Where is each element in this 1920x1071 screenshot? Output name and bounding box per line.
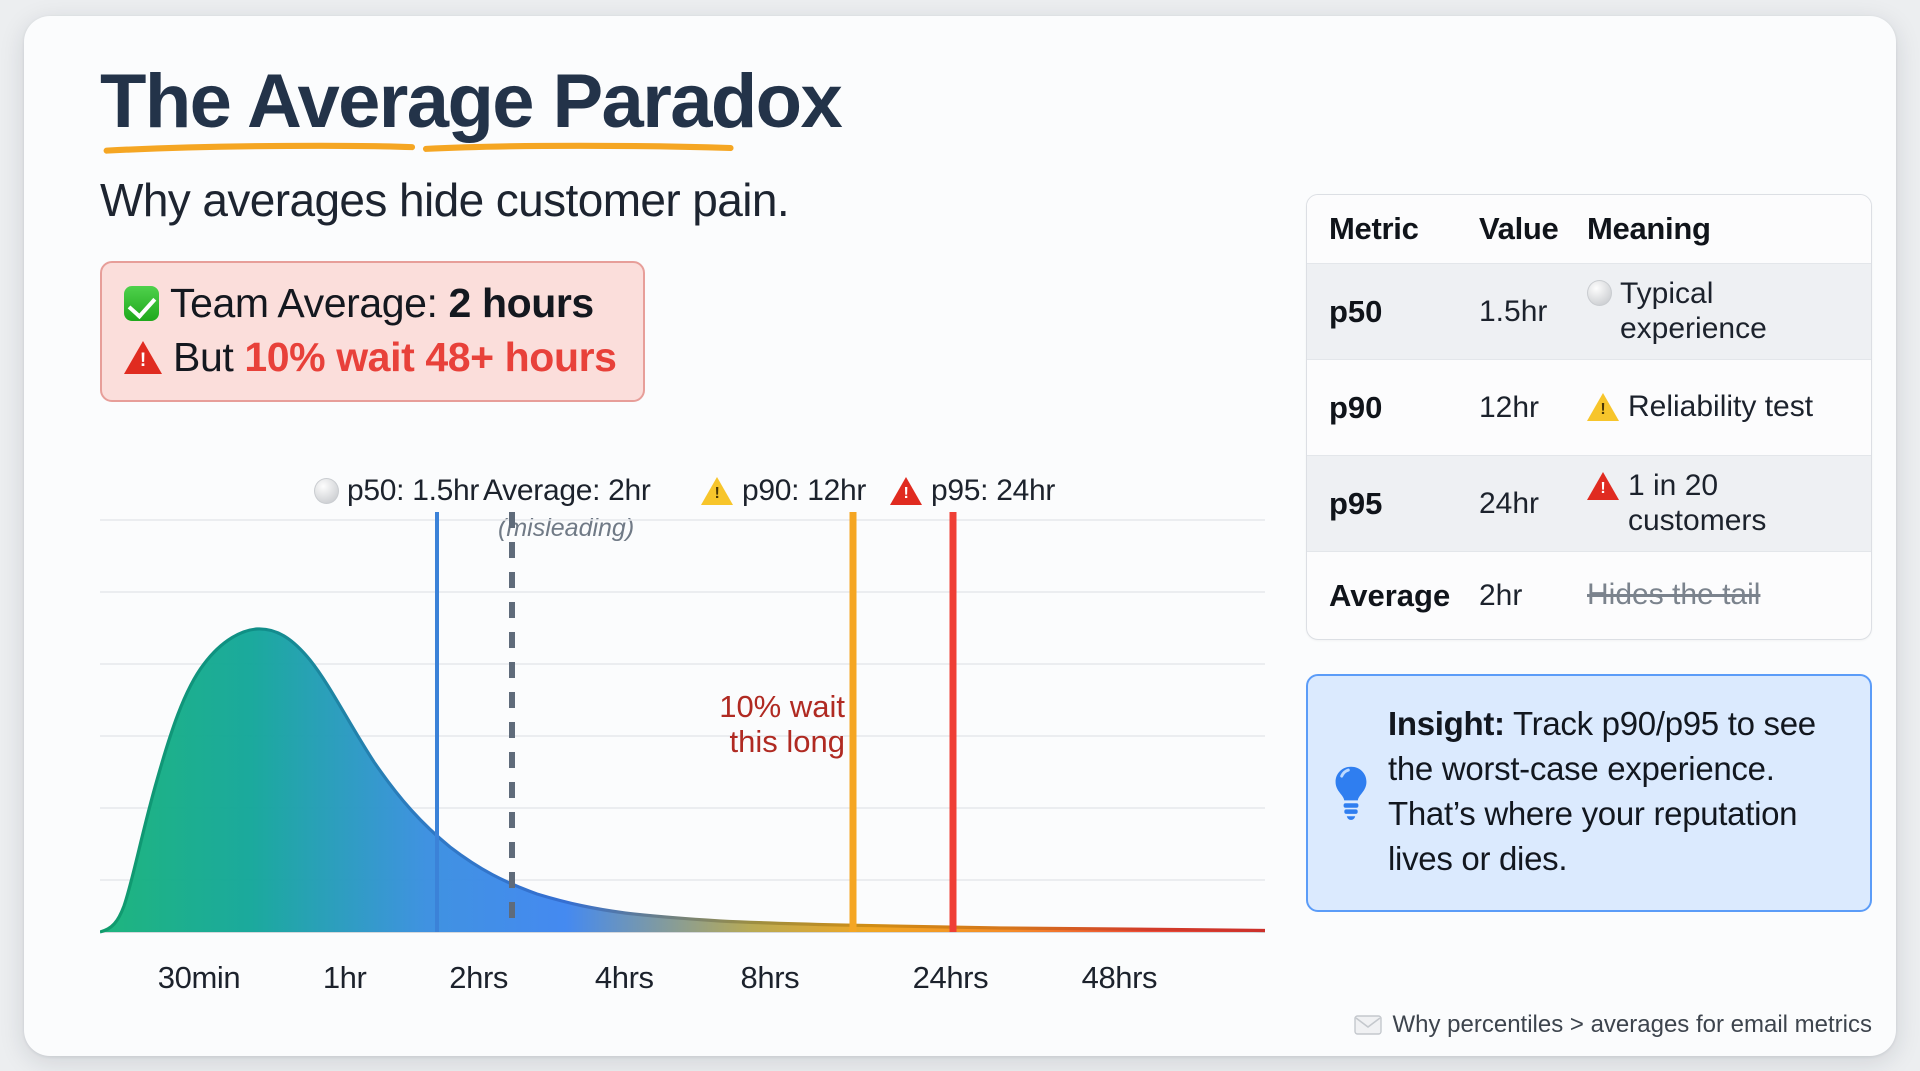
title-block: The Average Paradox: [100, 62, 841, 143]
x-tick-30min: 30min: [158, 960, 240, 996]
x-tick-2hrs: 2hrs: [449, 960, 508, 996]
column-header-meaning: Meaning: [1587, 211, 1871, 247]
table-row[interactable]: Average 2hr Hides the tail: [1307, 551, 1871, 639]
row-meaning: Reliability test: [1587, 390, 1871, 425]
row-value: 24hr: [1479, 487, 1587, 521]
alert-tail-value: 10% wait 48+ hours: [244, 334, 616, 380]
alert-average-value: 2 hours: [449, 280, 594, 326]
table-row[interactable]: p90 12hr Reliability test: [1307, 359, 1871, 455]
envelope-icon: [1354, 1015, 1382, 1035]
row-metric: Average: [1307, 578, 1479, 614]
footer-note: Why percentiles > averages for email met…: [1306, 1011, 1872, 1039]
chart-annotation-tail: 10% wait this long: [719, 690, 845, 759]
x-tick-8hrs: 8hrs: [741, 960, 800, 996]
x-tick-1hr: 1hr: [323, 960, 367, 996]
table-row[interactable]: p50 1.5hr Typical experience: [1307, 263, 1871, 359]
warning-triangle-red-icon: [1587, 472, 1619, 500]
row-value: 2hr: [1479, 579, 1587, 613]
alert-line-tail: But 10% wait 48+ hours: [124, 334, 617, 381]
grey-circle-icon: [314, 478, 339, 504]
left-column: The Average Paradox Why averages hide cu…: [100, 62, 1265, 1022]
insight-label: Insight:: [1388, 705, 1505, 742]
footer-text: Why percentiles > averages for email met…: [1392, 1011, 1872, 1039]
chart-marker-label-average: Average: 2hr: [483, 474, 651, 508]
row-meaning: Typical experience: [1587, 277, 1871, 347]
column-header-value: Value: [1479, 211, 1587, 247]
row-metric: p50: [1307, 294, 1479, 330]
chart-x-axis: 30min 1hr 2hrs 4hrs 8hrs 24hrs 48hrs: [100, 960, 1265, 1006]
infographic-card: The Average Paradox Why averages hide cu…: [24, 16, 1896, 1056]
chart-marker-label-p95: p95: 24hr: [890, 474, 1055, 508]
row-meaning: 1 in 20 customers: [1587, 469, 1871, 539]
row-metric: p90: [1307, 390, 1479, 426]
chart-area-curve: [100, 629, 1265, 932]
chart-marker-label-p50: p50: 1.5hr: [314, 474, 479, 508]
table-row[interactable]: p95 24hr 1 in 20 customers: [1307, 455, 1871, 551]
chart-plot-area: [100, 512, 1265, 962]
white-check-mark-icon: [124, 286, 159, 321]
alert-average-prefix: Team Average:: [170, 280, 449, 326]
row-value: 12hr: [1479, 391, 1587, 425]
x-tick-48hrs: 48hrs: [1082, 960, 1158, 996]
row-metric: p95: [1307, 486, 1479, 522]
grey-circle-icon: [1587, 280, 1612, 306]
warning-triangle-red-icon: [124, 341, 162, 374]
warning-triangle-yellow-icon: [1587, 393, 1619, 421]
metrics-table: Metric Value Meaning p50 1.5hr Typical e…: [1306, 194, 1872, 640]
chart-marker-label-p90: p90: 12hr: [701, 474, 866, 508]
x-tick-24hrs: 24hrs: [913, 960, 989, 996]
title-underline-decoration: [104, 141, 734, 155]
warning-triangle-red-icon: [890, 477, 922, 505]
row-value: 1.5hr: [1479, 295, 1587, 329]
alert-line-average: Team Average: 2 hours: [124, 280, 617, 327]
lightbulb-icon: [1330, 704, 1372, 882]
page-title: The Average Paradox: [100, 62, 841, 143]
x-tick-4hrs: 4hrs: [595, 960, 654, 996]
column-header-metric: Metric: [1307, 211, 1479, 247]
insight-callout: Insight: Track p90/p95 to see the worst-…: [1306, 674, 1872, 912]
alert-tail-prefix: But: [173, 334, 244, 380]
warning-triangle-yellow-icon: [701, 477, 733, 505]
page-subtitle: Why averages hide customer pain.: [100, 173, 1265, 227]
alert-callout: Team Average: 2 hours But 10% wait 48+ h…: [100, 261, 645, 402]
row-meaning: Hides the tail: [1587, 578, 1871, 613]
right-column: Metric Value Meaning p50 1.5hr Typical e…: [1306, 194, 1872, 912]
table-header-row: Metric Value Meaning: [1307, 195, 1871, 263]
distribution-chart: p50: 1.5hr Average: 2hr (misleading) p90…: [100, 482, 1265, 1022]
